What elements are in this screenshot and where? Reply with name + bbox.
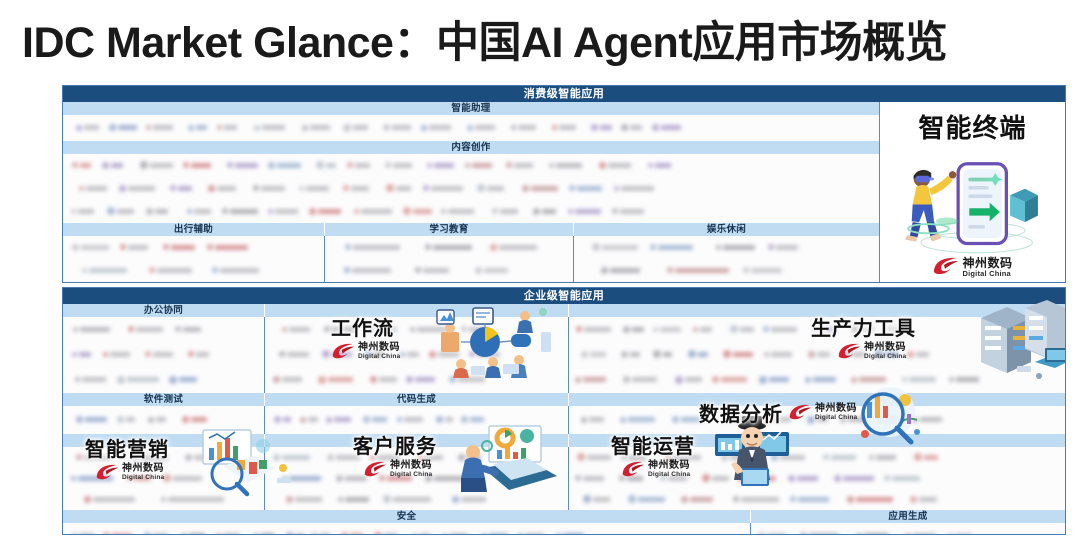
- logo-strip-workflow-2: [265, 342, 568, 367]
- subsection-smart-operations-spacer: [569, 434, 1065, 447]
- logo-strip-code-generation: [265, 406, 568, 434]
- vendor-logo: [282, 321, 313, 339]
- vendor-logo: [469, 346, 503, 364]
- smart-terminal-illustration: [885, 147, 1060, 257]
- vendor-logo: [569, 180, 605, 198]
- vendor-logo: [117, 371, 162, 389]
- logo-strip-productivity-1: [569, 317, 1065, 342]
- logo-strip-operations-1: [569, 447, 1065, 468]
- vendor-logo: [161, 491, 227, 509]
- vendor-logo: [370, 449, 404, 467]
- vendor-logo: [286, 527, 304, 535]
- vendor-logo: [374, 527, 400, 535]
- vendor-logo: [601, 262, 643, 280]
- logo-strip-data-analysis: [569, 406, 1065, 434]
- vendor-logo: [552, 119, 579, 137]
- vendor-logo: [327, 449, 363, 467]
- vendor-logo: [406, 371, 438, 389]
- vendor-logo: [318, 371, 356, 389]
- vendor-logo: [869, 449, 899, 467]
- vendor-logo: [738, 470, 779, 488]
- vendor-logo: [185, 449, 223, 467]
- vendor-logo: [268, 157, 304, 175]
- vendor-logo: [733, 491, 782, 509]
- vendor-logo: [146, 203, 171, 221]
- vendor-logo: [790, 491, 832, 509]
- subsection-learning-education[interactable]: 学习教育: [325, 223, 574, 236]
- subsection-customer-service-spacer: [265, 434, 569, 447]
- column-travel-assist: [63, 236, 325, 283]
- vendor-logo: [675, 371, 705, 389]
- vendor-logo: [623, 371, 660, 389]
- enterprise-row1-bars: 办公协同: [63, 304, 1065, 317]
- vendor-logo: [914, 449, 941, 467]
- vendor-logo: [410, 321, 450, 339]
- vendor-logo: [84, 491, 138, 509]
- logo-strip-software-testing: [63, 406, 264, 434]
- vendor-logo: [343, 119, 371, 137]
- vendor-logo: [907, 346, 932, 364]
- vendor-logo: [412, 527, 433, 535]
- enterprise-section-panel: 企业级智能应用 办公协同 软件测试 代码生成: [62, 287, 1066, 535]
- vendor-logo: [667, 262, 732, 280]
- vendor-logo: [383, 119, 414, 137]
- logo-strip-workflow-3: [265, 367, 568, 393]
- vendor-logo: [282, 470, 324, 488]
- vendor-logo: [771, 449, 808, 467]
- vendor-logo: [273, 449, 313, 467]
- vendor-logo: [506, 157, 536, 175]
- vendor-logo: [653, 346, 675, 364]
- vendor-logo: [338, 491, 372, 509]
- column-security: [63, 523, 751, 535]
- vendor-logo: [458, 449, 484, 467]
- logo-strip-smart-assistant: [63, 115, 879, 141]
- vendor-logo: [764, 346, 795, 364]
- vendor-logo: [354, 203, 395, 221]
- vendor-logo: [886, 321, 913, 339]
- vendor-logo: [665, 449, 704, 467]
- vendor-logo: [163, 470, 205, 488]
- vendor-logo: [299, 180, 332, 198]
- digital-china-swoosh-icon: [932, 257, 959, 276]
- section-header-enterprise: 企业级智能应用: [63, 288, 1065, 304]
- logo-strip-content-creation-1: [63, 154, 879, 177]
- vendor-logo: [533, 203, 559, 221]
- vendor-logo: [216, 527, 243, 535]
- vendor-logo: [425, 239, 475, 257]
- vendor-logo: [71, 470, 116, 488]
- vendor-logo: [577, 449, 614, 467]
- enterprise-bottom-columns: [63, 523, 1065, 535]
- vendor-logo: [621, 119, 645, 137]
- vendor-logo: [949, 371, 982, 389]
- vendor-logo: [347, 157, 373, 175]
- feature-column-smart-terminal[interactable]: 智能终端: [879, 102, 1065, 283]
- logo-strip-customer-3: [265, 489, 568, 510]
- vendor-logo: [268, 203, 301, 221]
- vendor-logo: [716, 239, 758, 257]
- vendor-logo: [576, 321, 614, 339]
- subsection-app-generation[interactable]: 应用生成: [751, 510, 1065, 523]
- vendor-logo: [518, 527, 547, 535]
- vendor-logo: [427, 157, 457, 175]
- vendor-logo: [581, 346, 609, 364]
- vendor-logo: [902, 371, 939, 389]
- consumer-section-body: 智能助理 内容创作 出行辅助 学习教育 娱乐休闲: [63, 102, 1065, 283]
- enterprise-row2-columns: [63, 406, 1065, 434]
- vendor-logo: [140, 157, 176, 175]
- vendor-logo: [273, 371, 305, 389]
- vendor-logo: [146, 119, 176, 137]
- vendor-logo: [316, 157, 339, 175]
- vendor-logo: [72, 157, 94, 175]
- vendor-logo: [856, 527, 892, 535]
- column-workflow[interactable]: [265, 317, 569, 393]
- vendor-logo: [449, 371, 488, 389]
- vendor-logo: [461, 321, 491, 339]
- vendor-logo: [522, 180, 561, 198]
- vendor-logo: [385, 157, 415, 175]
- vendor-logo: [324, 321, 360, 339]
- vendor-logo: [187, 203, 214, 221]
- vendor-logo: [119, 180, 158, 198]
- vendor-logo: [844, 346, 868, 364]
- enterprise-row1-columns: [63, 317, 1065, 393]
- vendor-logo: [103, 527, 135, 535]
- column-entertainment-leisure: [574, 236, 879, 283]
- vendor-logo: [415, 262, 452, 280]
- vendor-logo: [309, 203, 344, 221]
- vendor-logo: [71, 203, 97, 221]
- vendor-logo: [764, 411, 794, 429]
- vendor-logo: [652, 119, 684, 137]
- vendor-logo: [614, 180, 657, 198]
- logo-strip-customer-2: [265, 468, 568, 489]
- vendor-logo: [834, 470, 877, 488]
- vendor-logo: [82, 262, 130, 280]
- vendor-logo: [109, 119, 140, 137]
- vendor-logo: [72, 239, 112, 257]
- vendor-logo: [763, 321, 800, 339]
- subsection-data-analysis-spacer: [569, 393, 1065, 406]
- vendor-logo: [490, 239, 540, 257]
- vendor-logo: [322, 346, 355, 364]
- logo-strip-productivity-2: [569, 342, 1065, 367]
- vendor-logo: [465, 157, 495, 175]
- vendor-logo: [758, 527, 789, 535]
- vendor-logo: [175, 321, 204, 339]
- enterprise-row3-columns: [63, 447, 1065, 510]
- consumer-bottom-columns: [63, 236, 879, 283]
- logo-strip-marketing-1: [63, 447, 264, 468]
- logo-strip-entertainment-1: [574, 236, 879, 259]
- subsection-smart-assistant[interactable]: 智能助理: [63, 102, 879, 115]
- logo-strip-travel-2: [63, 259, 324, 282]
- vendor-logo: [723, 346, 756, 364]
- vendor-logo: [107, 203, 137, 221]
- vendor-logo: [591, 119, 615, 137]
- vendor-logo: [475, 262, 511, 280]
- vendor-logo: [363, 411, 390, 429]
- vendor-logo: [581, 411, 607, 429]
- vendor-logo: [144, 527, 171, 535]
- logo-strip-office-2: [63, 342, 264, 367]
- enterprise-row3-bars: [63, 434, 1065, 447]
- vendor-logo: [672, 411, 708, 429]
- vendor-logo: [227, 157, 261, 175]
- vendor-logo: [851, 371, 889, 389]
- vendor-logo: [847, 491, 896, 509]
- vendor-logo: [397, 411, 426, 429]
- vendor-logo: [730, 321, 757, 339]
- vendor-logo: [170, 180, 195, 198]
- subsection-workflow-spacer: [265, 304, 569, 317]
- vendor-logo: [912, 411, 945, 429]
- vendor-logo: [653, 321, 684, 339]
- vendor-logo: [207, 239, 251, 257]
- vendor-logo: [366, 321, 400, 339]
- subsection-entertainment-leisure[interactable]: 娱乐休闲: [574, 223, 879, 236]
- vendor-logo: [648, 157, 674, 175]
- brand-name-en: Digital China: [962, 270, 1012, 278]
- vendor-logo: [365, 346, 387, 364]
- vendor-logo: [336, 470, 370, 488]
- vendor-logo: [181, 527, 208, 535]
- logo-strip-office-3: [63, 367, 264, 393]
- vendor-logo: [72, 346, 94, 364]
- vendor-logo: [612, 203, 647, 221]
- vendor-logo: [274, 411, 293, 429]
- vendor-logo: [721, 449, 760, 467]
- vendor-logo: [840, 411, 871, 429]
- vendor-logo: [549, 157, 585, 175]
- logo-strip-customer-1: [265, 447, 568, 468]
- vendor-logo: [188, 346, 212, 364]
- vendor-logo: [423, 180, 466, 198]
- vendor-logo: [436, 411, 455, 429]
- vendor-logo: [477, 180, 507, 198]
- consumer-categories: 智能助理 内容创作 出行辅助 学习教育 娱乐休闲: [63, 102, 879, 283]
- logo-strip-productivity-3: [569, 367, 1065, 393]
- vendor-logo: [72, 527, 97, 535]
- vendor-logo: [712, 371, 750, 389]
- vendor-logo: [279, 346, 312, 364]
- logo-strip-operations-3: [569, 489, 1065, 510]
- vendor-logo: [79, 180, 110, 198]
- vendor-logo: [852, 321, 877, 339]
- vendor-logo: [254, 119, 288, 137]
- vendor-logo: [568, 203, 604, 221]
- vendor-logo: [149, 262, 195, 280]
- vendor-logo: [575, 371, 609, 389]
- vendor-logo: [620, 411, 658, 429]
- vendor-logo: [619, 470, 646, 488]
- column-software-testing: [63, 406, 265, 434]
- subsection-content-creation[interactable]: 内容创作: [63, 141, 879, 154]
- vendor-logo: [599, 157, 634, 175]
- vendor-logo: [621, 346, 643, 364]
- vendor-logo: [425, 470, 466, 488]
- subsection-security[interactable]: 安全: [63, 510, 751, 523]
- column-smart-operations[interactable]: [569, 447, 1065, 510]
- vendor-logo: [721, 411, 754, 429]
- vendor-logo: [103, 346, 133, 364]
- vendor-logo: [217, 119, 240, 137]
- vendor-logo: [592, 239, 641, 257]
- vendor-logo: [621, 449, 649, 467]
- vendor-logo: [73, 321, 113, 339]
- vendor-logo: [145, 346, 176, 364]
- vendor-logo: [492, 203, 521, 221]
- vendor-logo: [452, 491, 489, 509]
- subsection-office-collaboration[interactable]: 办公协同: [63, 304, 265, 317]
- vendor-logo: [681, 491, 716, 509]
- vendor-logo: [461, 411, 487, 429]
- enterprise-row2-bars: 软件测试 代码生成: [63, 393, 1065, 406]
- vendor-logo: [693, 321, 715, 339]
- vendor-logo: [117, 411, 138, 429]
- vendor-logo: [743, 262, 785, 280]
- column-smart-marketing[interactable]: [63, 447, 265, 510]
- logo-strip-workflow-1: [265, 317, 568, 342]
- vendor-logo: [807, 411, 831, 429]
- vendor-logo: [343, 180, 372, 198]
- vendor-logo: [823, 449, 859, 467]
- vendor-logo: [442, 527, 471, 535]
- vendor-logo: [169, 371, 200, 389]
- vendor-logo: [132, 449, 171, 467]
- vendor-logo: [127, 470, 154, 488]
- vendor-logo: [660, 470, 690, 488]
- vendor-logo: [208, 180, 239, 198]
- vendor-logo: [120, 239, 151, 257]
- vendor-logo: [879, 411, 901, 429]
- vendor-logo: [556, 527, 587, 535]
- vendor-logo: [183, 157, 214, 175]
- feature-label-smart-terminal: 智能终端: [918, 108, 1026, 145]
- vendor-logo: [182, 411, 210, 429]
- logo-strip-marketing-2: [63, 468, 264, 489]
- vendor-logo: [421, 119, 454, 137]
- logo-strip-learning-1: [325, 236, 573, 259]
- column-app-generation: [751, 523, 1065, 535]
- vendor-logo: [76, 411, 110, 429]
- vendor-logo: [345, 239, 403, 257]
- vendor-logo: [386, 180, 414, 198]
- vendor-logo: [300, 411, 321, 429]
- logo-strip-learning-2: [325, 259, 573, 282]
- logo-strip-content-creation-2: [63, 177, 879, 200]
- logo-strip-operations-2: [569, 468, 1065, 489]
- vendor-logo: [302, 119, 333, 137]
- vendor-logo: [650, 239, 696, 257]
- vendor-logo: [344, 262, 394, 280]
- vendor-logo: [788, 470, 821, 488]
- vendor-logo: [800, 527, 842, 535]
- vendor-logo: [429, 346, 462, 364]
- vendor-logo: [75, 371, 109, 389]
- column-office-collaboration: [63, 317, 265, 393]
- subsection-code-generation[interactable]: 代码生成: [265, 393, 569, 406]
- vendor-logo: [511, 119, 539, 137]
- vendor-logo: [910, 491, 940, 509]
- logo-strip-office-1: [63, 317, 264, 342]
- logo-strip-app-generation: [751, 523, 1065, 535]
- column-customer-service[interactable]: [265, 447, 569, 510]
- page-title: IDC Market Glance：中国AI Agent应用市场概览: [22, 14, 1070, 72]
- vendor-logo: [467, 119, 498, 137]
- vendor-logo: [222, 203, 261, 221]
- column-code-generation: [265, 406, 569, 434]
- consumer-bottom-subsection-bars: 出行辅助 学习教育 娱乐休闲: [63, 223, 879, 236]
- vendor-logo: [102, 157, 126, 175]
- vendor-logo: [884, 470, 923, 488]
- vendor-logo: [808, 346, 833, 364]
- enterprise-bottom-bars: 安全 应用生成: [63, 510, 1065, 523]
- subsection-smart-marketing-spacer: [63, 434, 265, 447]
- vendor-logo: [400, 346, 422, 364]
- subsection-travel-assist[interactable]: 出行辅助: [63, 223, 325, 236]
- vendor-logo: [148, 411, 169, 429]
- vendor-logo: [253, 180, 288, 198]
- vendor-logo: [702, 470, 732, 488]
- vendor-logo: [403, 203, 435, 221]
- vendor-logo: [212, 262, 262, 280]
- vendor-logo: [575, 470, 607, 488]
- vendor-logo: [623, 321, 647, 339]
- vendor-logo: [583, 491, 613, 509]
- vendor-logo: [128, 321, 166, 339]
- column-productivity-tools[interactable]: [569, 317, 1065, 393]
- vendor-logo: [875, 346, 901, 364]
- vendor-logo: [688, 346, 711, 364]
- vendor-logo: [326, 411, 354, 429]
- vendor-logo: [188, 119, 210, 137]
- vendor-logo: [905, 527, 939, 535]
- vendor-logo: [254, 527, 277, 535]
- vendor-logo: [768, 239, 801, 257]
- logo-strip-marketing-3: [63, 489, 264, 510]
- vendor-logo: [805, 371, 839, 389]
- subsection-productivity-spacer: [569, 304, 1065, 317]
- vendor-logo: [341, 527, 366, 535]
- vendor-logo: [379, 470, 415, 488]
- vendor-logo: [76, 449, 115, 467]
- vendor-logo: [418, 449, 446, 467]
- subsection-software-testing[interactable]: 软件测试: [63, 393, 265, 406]
- logo-strip-security: [63, 523, 750, 535]
- vendor-logo: [441, 203, 477, 221]
- vendor-logo: [286, 491, 325, 509]
- vendor-logo: [76, 119, 102, 137]
- vendor-logo: [759, 371, 792, 389]
- column-learning-education: [325, 236, 574, 283]
- vendor-logo: [628, 491, 668, 509]
- column-data-analysis[interactable]: [569, 406, 1065, 434]
- vendor-logo: [383, 491, 434, 509]
- logo-strip-entertainment-2: [574, 259, 879, 282]
- vendor-logo: [481, 527, 511, 535]
- brand-name-cn: 神州数码: [962, 257, 1012, 269]
- vendor-logo: [948, 527, 975, 535]
- digital-china-logo-smart-terminal: 神州数码 Digital China: [932, 257, 1012, 278]
- consumer-section-panel: 消费级智能应用 智能助理 内容创作 出行辅助 学习教育 娱乐休闲: [62, 85, 1066, 283]
- vendor-logo: [370, 371, 400, 389]
- logo-strip-travel-1: [63, 236, 324, 259]
- vendor-logo: [311, 527, 333, 535]
- vendor-logo: [813, 321, 840, 339]
